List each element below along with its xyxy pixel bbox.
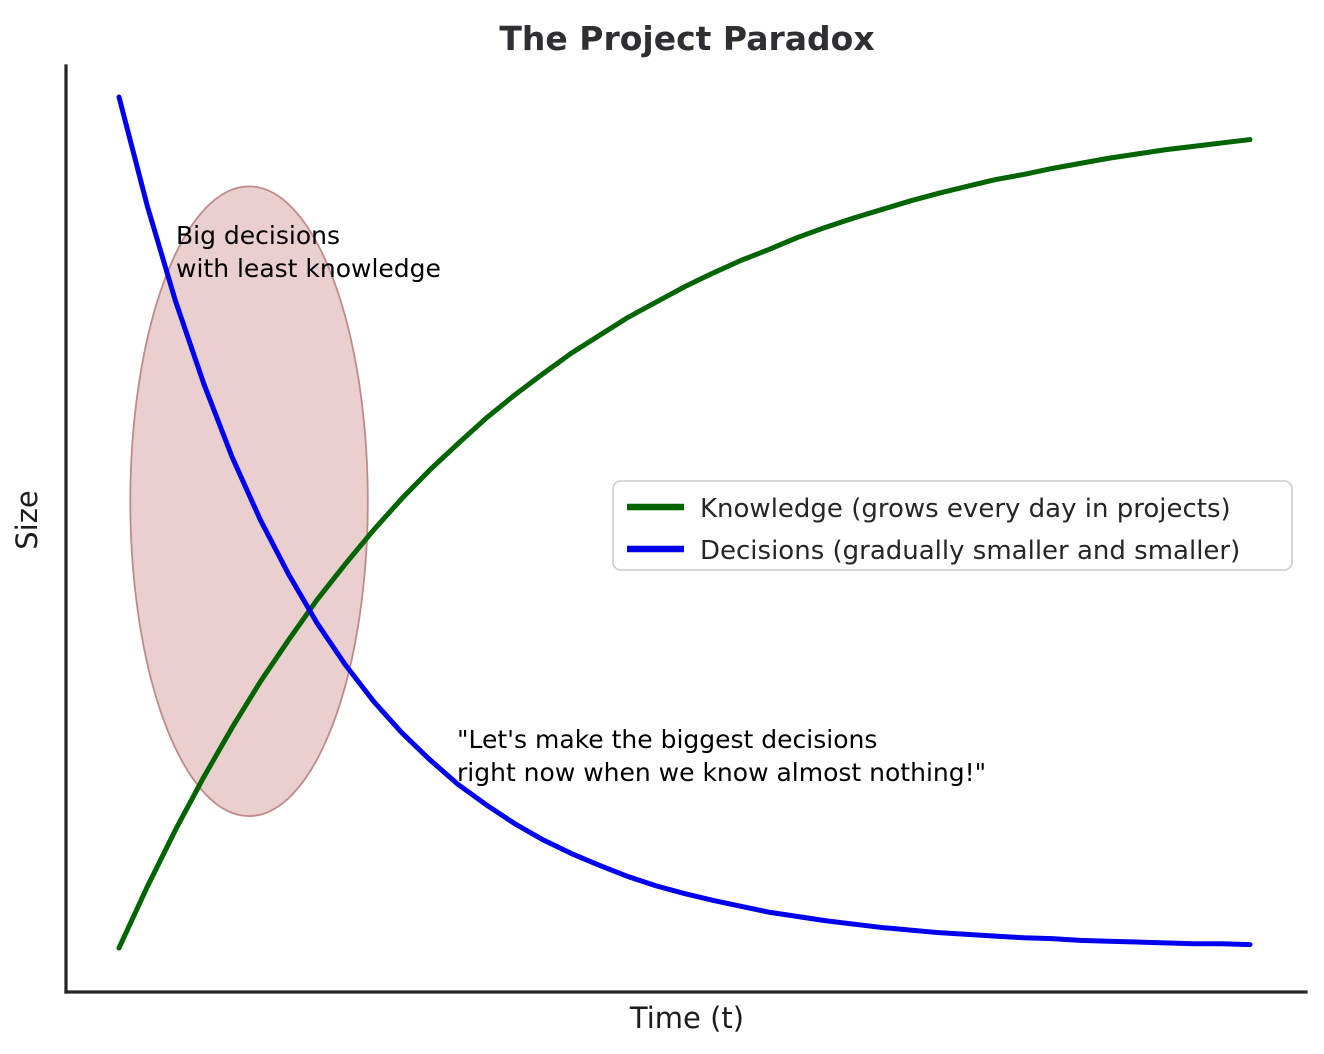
legend-label-decisions: Decisions (gradually smaller and smaller… — [700, 536, 1240, 566]
project-paradox-chart: The Project Paradox Size Time (t) Big de… — [0, 0, 1324, 1054]
chart-legend[interactable]: Knowledge (grows every day in projects) … — [613, 481, 1292, 570]
legend-item-decisions[interactable]: Decisions (gradually smaller and smaller… — [627, 536, 1240, 566]
figure-canvas: The Project Paradox Size Time (t) Big de… — [0, 0, 1324, 1054]
legend-item-knowledge[interactable]: Knowledge (grows every day in projects) — [627, 494, 1231, 524]
big-decisions-note-line-2: with least knowledge — [176, 254, 441, 283]
x-axis-label: Time (t) — [629, 1001, 744, 1035]
quote-note: "Let's make the biggest decisions right … — [457, 725, 986, 787]
y-axis-label: Size — [10, 490, 44, 550]
quote-note-line-1: "Let's make the biggest decisions — [457, 725, 877, 754]
page-title: The Project Paradox — [499, 19, 874, 58]
legend-label-knowledge: Knowledge (grows every day in projects) — [700, 494, 1231, 524]
big-decisions-note-line-1: Big decisions — [176, 221, 340, 250]
quote-note-line-2: right now when we know almost nothing!" — [457, 758, 986, 787]
